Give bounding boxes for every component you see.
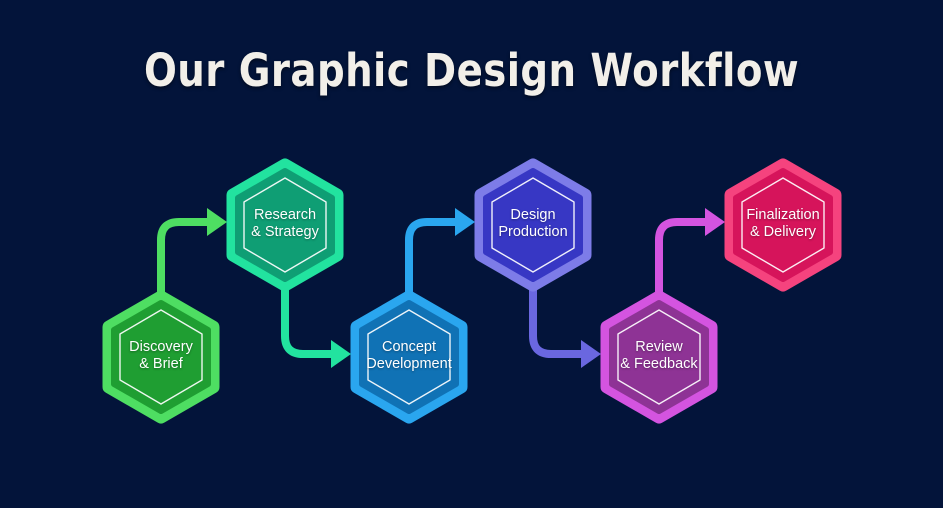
process-step-3-button[interactable] [351,291,467,423]
workflow-infographic: Our Graphic Design Workflow Discovery& B… [0,0,943,508]
process-step-4-button[interactable] [475,159,591,291]
process-step-6-button[interactable] [725,159,841,291]
process-step-2-button[interactable] [227,159,343,291]
diagram-stage: Discovery& BriefResearch& StrategyConcep… [0,0,943,508]
process-step-1-button[interactable] [103,291,219,423]
process-step-5-button[interactable] [601,291,717,423]
